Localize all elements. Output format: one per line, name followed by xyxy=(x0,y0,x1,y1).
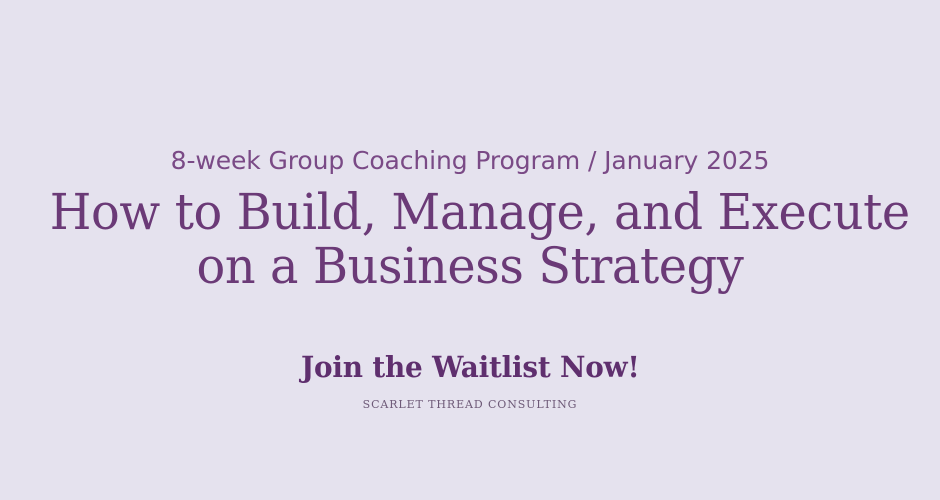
headline-line-1: How to Build, Manage, and Execute xyxy=(50,185,890,239)
program-eyebrow-text: 8-week Group Coaching Program / January … xyxy=(171,147,770,176)
headline-line-2: on a Business Strategy xyxy=(50,239,890,293)
join-waitlist-cta[interactable]: Join the Waitlist Now! xyxy=(301,352,639,384)
headline: How to Build, Manage, and Execute on a B… xyxy=(50,185,890,293)
brand-name: SCARLET THREAD CONSULTING xyxy=(363,398,578,411)
promo-banner: 8-week Group Coaching Program / January … xyxy=(0,0,940,500)
